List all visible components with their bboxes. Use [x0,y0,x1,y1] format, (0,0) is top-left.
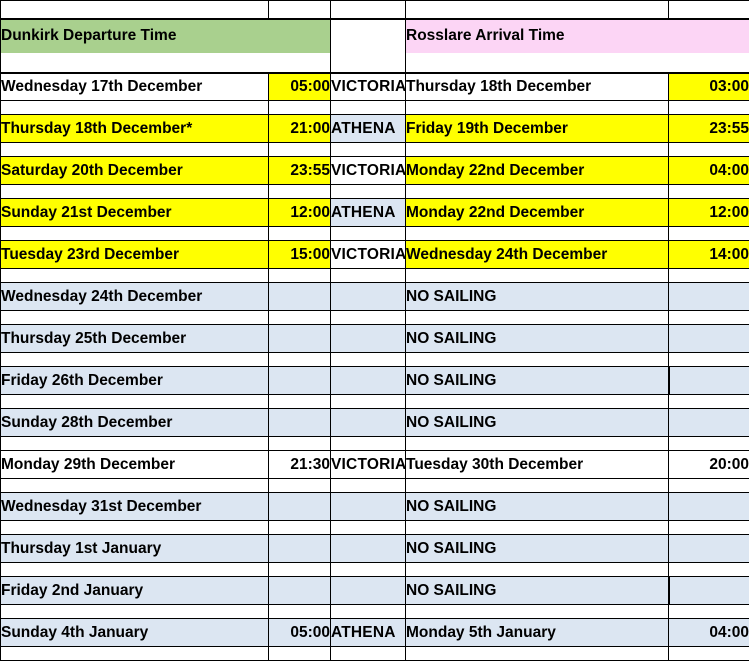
row-spacer [1,605,749,619]
row-spacer-cell [331,605,406,619]
row-spacer-cell [269,353,331,367]
row-spacer-cell [331,185,406,199]
departure-time-cell: 05:00 [269,73,331,101]
row-spacer-cell [669,605,749,619]
row-spacer-cell [269,143,331,157]
arrival-date-cell: Wednesday 24th December [406,241,669,269]
row-spacer-cell [1,311,269,325]
departure-time-cell: 21:00 [269,115,331,143]
header-under-gap [331,53,406,73]
table-row: Wednesday 31st DecemberNO SAILING [1,493,749,521]
top-cell-1 [1,1,269,19]
ship-name-cell [331,493,406,521]
row-spacer-cell [1,563,269,577]
arrival-time-cell: 12:00 [669,199,749,227]
row-spacer-cell [669,479,749,493]
departure-header-title: Dunkirk Departure Time [1,19,331,53]
top-partial-row [1,1,749,19]
ship-name-cell: ATHENA [331,199,406,227]
arrival-date-cell: Monday 22nd December [406,157,669,185]
row-spacer-cell [269,521,331,535]
row-spacer [1,437,749,451]
row-spacer [1,647,749,661]
table-row: Tuesday 23rd December15:00VICTORIAWednes… [1,241,749,269]
departure-time-cell [269,493,331,521]
top-cell-3 [331,1,406,19]
departure-time-cell: 23:55 [269,157,331,185]
departure-date-cell: Monday 29th December [1,451,269,479]
row-spacer-cell [669,101,749,115]
arrival-date-cell: Monday 22nd December [406,199,669,227]
departure-date-cell: Thursday 18th December* [1,115,269,143]
row-spacer-cell [331,353,406,367]
row-spacer-cell [1,395,269,409]
top-cell-2 [269,1,331,19]
row-spacer-cell [669,311,749,325]
arrival-date-cell: NO SAILING [406,535,669,563]
row-spacer-cell [406,563,669,577]
arrival-time-cell [669,535,749,563]
row-spacer-cell [1,143,269,157]
row-spacer-cell [269,101,331,115]
row-spacer-cell [331,395,406,409]
ship-name-cell: ATHENA [331,115,406,143]
departure-date-cell: Friday 2nd January [1,577,269,605]
ship-name-cell: VICTORIA [331,241,406,269]
ship-name-cell [331,409,406,437]
row-spacer-cell [406,605,669,619]
header-under-departure [1,53,331,73]
table-row: Thursday 25th DecemberNO SAILING [1,325,749,353]
table-row: Monday 29th December21:30VICTORIATuesday… [1,451,749,479]
ship-name-cell [331,325,406,353]
row-spacer-cell [406,227,669,241]
arrival-date-cell: Friday 19th December [406,115,669,143]
arrival-date-cell: NO SAILING [406,283,669,311]
row-spacer-cell [669,647,749,661]
row-spacer [1,521,749,535]
row-spacer-cell [406,479,669,493]
row-spacer-cell [669,395,749,409]
row-spacer-cell [406,311,669,325]
arrival-date-cell: NO SAILING [406,325,669,353]
row-spacer-cell [269,479,331,493]
row-spacer-cell [406,269,669,283]
row-spacer [1,143,749,157]
arrival-time-cell [669,325,749,353]
ship-name-cell [331,535,406,563]
arrival-date-cell: NO SAILING [406,577,669,605]
arrival-time-cell: 03:00 [669,73,749,101]
arrival-time-cell [669,409,749,437]
table-row: Saturday 20th December23:55VICTORIAMonda… [1,157,749,185]
arrival-date-cell: NO SAILING [406,493,669,521]
arrival-date-cell: NO SAILING [406,367,669,395]
row-spacer-cell [331,437,406,451]
row-spacer-cell [1,101,269,115]
arrival-time-cell: 04:00 [669,157,749,185]
row-spacer [1,479,749,493]
row-spacer-cell [331,311,406,325]
row-spacer-cell [406,143,669,157]
row-spacer [1,227,749,241]
row-spacer [1,101,749,115]
row-spacer-cell [269,437,331,451]
row-spacer [1,311,749,325]
departure-date-cell: Wednesday 31st December [1,493,269,521]
row-spacer-cell [1,269,269,283]
departure-date-cell: Tuesday 23rd December [1,241,269,269]
row-spacer-cell [331,647,406,661]
departure-date-cell: Wednesday 17th December [1,73,269,101]
row-spacer-cell [669,269,749,283]
row-spacer [1,395,749,409]
ship-name-cell [331,283,406,311]
header-underrow [1,53,749,73]
arrival-time-cell [669,367,749,395]
row-spacer-cell [269,311,331,325]
departure-time-cell: 21:30 [269,451,331,479]
row-spacer-cell [331,563,406,577]
row-spacer-cell [406,395,669,409]
ship-name-cell: VICTORIA [331,157,406,185]
schedule-table: Dunkirk Departure Time Rosslare Arrival … [0,0,749,661]
arrival-time-cell [669,493,749,521]
spreadsheet-schedule: Dunkirk Departure Time Rosslare Arrival … [0,0,749,643]
departure-date-cell: Friday 26th December [1,367,269,395]
row-spacer-cell [669,143,749,157]
row-spacer-cell [269,227,331,241]
departure-date-cell: Sunday 4th January [1,619,269,647]
table-row: Wednesday 17th December05:00VICTORIAThur… [1,73,749,101]
row-spacer-cell [669,227,749,241]
row-spacer-cell [669,185,749,199]
row-spacer-cell [669,437,749,451]
row-spacer-cell [269,185,331,199]
row-spacer-cell [406,647,669,661]
table-row: Friday 26th DecemberNO SAILING [1,367,749,395]
arrival-time-cell: 23:55 [669,115,749,143]
departure-date-cell: Saturday 20th December [1,157,269,185]
departure-date-cell: Wednesday 24th December [1,283,269,311]
table-row: Wednesday 24th DecemberNO SAILING [1,283,749,311]
departure-time-cell [269,367,331,395]
row-spacer-cell [1,353,269,367]
departure-date-cell: Thursday 1st January [1,535,269,563]
departure-time-cell [269,325,331,353]
arrival-time-cell: 14:00 [669,241,749,269]
row-spacer-cell [269,395,331,409]
row-spacer-cell [331,521,406,535]
row-spacer-cell [269,269,331,283]
row-spacer-cell [269,605,331,619]
row-spacer-cell [1,521,269,535]
row-spacer-cell [669,563,749,577]
top-cell-5 [669,1,749,19]
arrival-time-cell [669,283,749,311]
table-row: Sunday 4th January05:00ATHENAMonday 5th … [1,619,749,647]
row-spacer [1,269,749,283]
row-spacer-cell [406,353,669,367]
ship-name-cell [331,367,406,395]
row-spacer [1,563,749,577]
arrival-time-cell [669,577,749,605]
arrival-time-cell: 20:00 [669,451,749,479]
row-spacer-cell [406,185,669,199]
row-spacer-cell [406,437,669,451]
departure-time-cell: 05:00 [269,619,331,647]
table-row: Sunday 21st December12:00ATHENAMonday 22… [1,199,749,227]
header-row: Dunkirk Departure Time Rosslare Arrival … [1,19,749,53]
table-row: Thursday 18th December*21:00ATHENAFriday… [1,115,749,143]
departure-time-cell [269,409,331,437]
arrival-time-cell: 04:00 [669,619,749,647]
row-spacer-cell [1,185,269,199]
departure-date-cell: Sunday 28th December [1,409,269,437]
departure-time-cell [269,577,331,605]
ship-name-cell: VICTORIA [331,451,406,479]
row-spacer-cell [269,563,331,577]
top-cell-4 [406,1,669,19]
row-spacer-cell [1,605,269,619]
row-spacer-cell [1,647,269,661]
row-spacer-cell [406,101,669,115]
row-spacer-cell [669,353,749,367]
row-spacer-cell [406,521,669,535]
departure-time-cell [269,283,331,311]
arrival-date-cell: Monday 5th January [406,619,669,647]
departure-time-cell: 12:00 [269,199,331,227]
row-spacer-cell [331,479,406,493]
arrival-date-cell: Tuesday 30th December [406,451,669,479]
row-spacer-cell [331,101,406,115]
arrival-date-cell: Thursday 18th December [406,73,669,101]
row-spacer-cell [331,227,406,241]
header-under-arrival [406,53,749,73]
row-spacer [1,185,749,199]
arrival-header-title: Rosslare Arrival Time [406,19,749,53]
row-spacer-cell [1,479,269,493]
departure-time-cell: 15:00 [269,241,331,269]
ship-name-cell: ATHENA [331,619,406,647]
table-row: Sunday 28th DecemberNO SAILING [1,409,749,437]
row-spacer-cell [1,437,269,451]
departure-time-cell [269,535,331,563]
row-spacer-cell [669,521,749,535]
departure-date-cell: Thursday 25th December [1,325,269,353]
table-row: Thursday 1st JanuaryNO SAILING [1,535,749,563]
table-row: Friday 2nd JanuaryNO SAILING [1,577,749,605]
row-spacer-cell [1,227,269,241]
row-spacer-cell [331,143,406,157]
arrival-date-cell: NO SAILING [406,409,669,437]
ship-name-cell: VICTORIA [331,73,406,101]
row-spacer-cell [331,269,406,283]
row-spacer-cell [269,647,331,661]
row-spacer [1,353,749,367]
header-gap-cell [331,19,406,53]
departure-date-cell: Sunday 21st December [1,199,269,227]
ship-name-cell [331,577,406,605]
